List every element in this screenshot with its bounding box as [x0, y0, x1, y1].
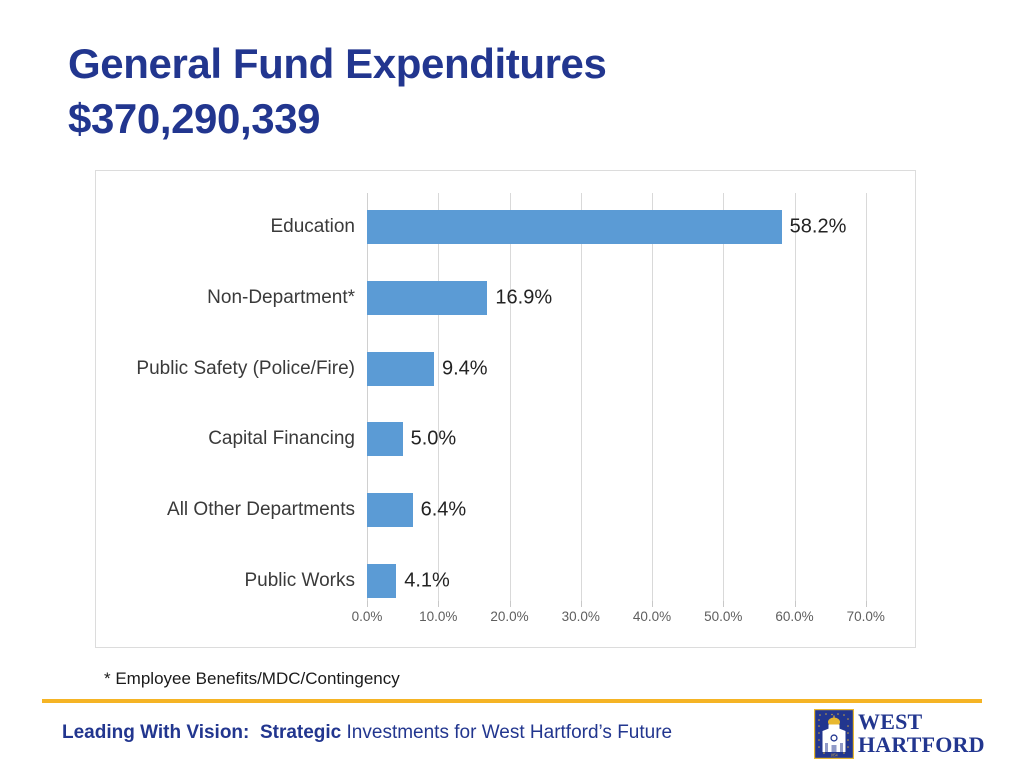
gridline-30.0%: [581, 193, 582, 601]
bar[interactable]: [367, 422, 403, 456]
bar[interactable]: [367, 210, 782, 244]
footer-tagline: Leading With Vision: Strategic Investmen…: [62, 722, 672, 744]
tickmark-50.0%: [723, 601, 724, 607]
category-label: Non-Department*: [207, 287, 355, 309]
bar-row: Education58.2%: [367, 210, 880, 244]
gridline-60.0%: [795, 193, 796, 601]
title-line-2: $370,290,339: [68, 91, 948, 146]
gridline-10.0%: [438, 193, 439, 601]
x-axis-tick-label: 20.0%: [490, 609, 528, 624]
page-title: General Fund Expenditures $370,290,339: [68, 36, 948, 147]
x-axis-tick-label: 70.0%: [847, 609, 885, 624]
footer-tagline-bold: Leading With Vision:: [62, 722, 249, 743]
bar[interactable]: [367, 564, 396, 598]
chart-footnote: * Employee Benefits/MDC/Contingency: [104, 669, 400, 689]
x-axis-tick-label: 50.0%: [704, 609, 742, 624]
category-label: Public Works: [244, 570, 355, 592]
footer-divider: [42, 699, 982, 703]
bar-row: Public Safety (Police/Fire)9.4%: [367, 352, 880, 386]
town-seal-shield-icon: 1854: [814, 709, 854, 759]
chart-panel: 0.0%10.0%20.0%30.0%40.0%50.0%60.0%70.0%E…: [95, 170, 916, 648]
x-axis-tick-label: 10.0%: [419, 609, 457, 624]
tickmark-40.0%: [652, 601, 653, 607]
category-label: Public Safety (Police/Fire): [136, 358, 355, 380]
bar-row: Non-Department*16.9%: [367, 281, 880, 315]
gridline-20.0%: [510, 193, 511, 601]
logo-wordmark-line-1: WEST: [858, 710, 985, 733]
title-line-1: General Fund Expenditures: [68, 36, 948, 91]
chart-plot-area: 0.0%10.0%20.0%30.0%40.0%50.0%60.0%70.0%E…: [367, 193, 880, 601]
bar-value-label: 6.4%: [421, 499, 467, 522]
bar-row: Capital Financing5.0%: [367, 422, 880, 456]
x-axis-tick-label: 30.0%: [562, 609, 600, 624]
gridline-50.0%: [723, 193, 724, 601]
bar-value-label: 4.1%: [404, 570, 450, 593]
footer-tagline-semibold: Strategic: [260, 722, 341, 743]
west-hartford-logo: 1854 WEST HARTFORD: [814, 709, 984, 759]
gridline-40.0%: [652, 193, 653, 601]
bar-row: Public Works4.1%: [367, 564, 880, 598]
tickmark-10.0%: [438, 601, 439, 607]
tickmark-20.0%: [510, 601, 511, 607]
bar-value-label: 16.9%: [495, 286, 552, 309]
bar-row: All Other Departments6.4%: [367, 493, 880, 527]
bar[interactable]: [367, 493, 413, 527]
logo-wordmark-line-2: HARTFORD: [858, 733, 985, 756]
category-label: All Other Departments: [167, 499, 355, 521]
bar[interactable]: [367, 281, 487, 315]
tickmark-60.0%: [795, 601, 796, 607]
bar[interactable]: [367, 352, 434, 386]
x-axis-tick-label: 40.0%: [633, 609, 671, 624]
bar-value-label: 58.2%: [790, 216, 847, 239]
category-label: Capital Financing: [208, 428, 355, 450]
footer-tagline-regular: Investments for West Hartford’s Future: [347, 722, 673, 743]
tickmark-30.0%: [581, 601, 582, 607]
x-axis-tick-label: 0.0%: [352, 609, 383, 624]
logo-wordmark: WEST HARTFORD: [858, 710, 985, 756]
tickmark-70.0%: [866, 601, 867, 607]
bar-value-label: 9.4%: [442, 357, 488, 380]
gridline-70.0%: [866, 193, 867, 601]
tickmark-0.0%: [367, 601, 368, 607]
shield-year-text: 1854: [830, 754, 837, 758]
gridline-0.0%: [367, 193, 368, 601]
category-label: Education: [270, 216, 355, 238]
x-axis-tick-label: 60.0%: [775, 609, 813, 624]
bar-value-label: 5.0%: [411, 428, 457, 451]
